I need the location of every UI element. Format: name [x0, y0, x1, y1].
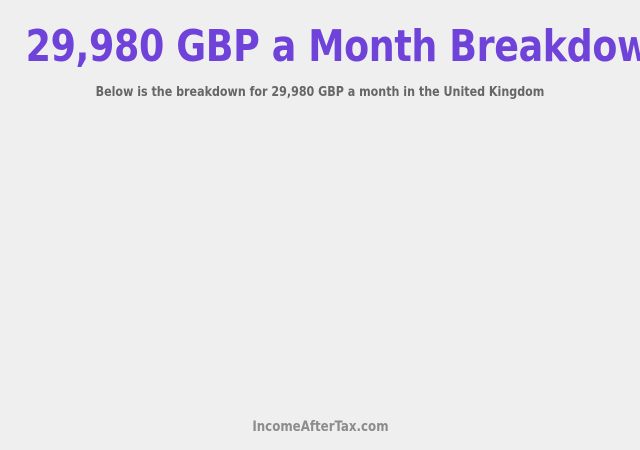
chart-plot-area	[0, 112, 640, 407]
footer: IncomeAfterTax.com	[0, 418, 640, 436]
site-watermark: IncomeAfterTax.com	[252, 419, 388, 436]
page-subtitle: Below is the breakdown for 29,980 GBP a …	[16, 85, 624, 101]
page-title: 29,980 GBP a Month Breakdown	[26, 21, 615, 73]
page-root: 29,980 GBP a Month Breakdown Below is th…	[0, 0, 640, 450]
